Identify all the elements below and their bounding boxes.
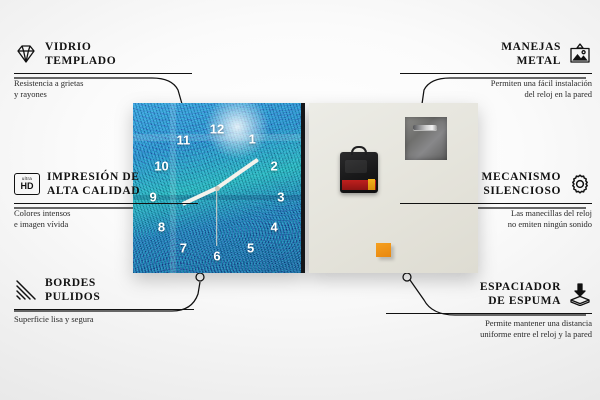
foam-spacer-part (376, 243, 391, 257)
callout-title: BORDES PULIDOS (45, 276, 100, 305)
callout-head: ultra HD IMPRESIÓN DE ALTA CALIDAD (14, 170, 198, 199)
callout-bordes-pulidos: BORDES PULIDOS Superficie lisa y segura (14, 276, 194, 325)
callout-head: ESPACIADOR DE ESPUMA (386, 280, 592, 309)
callout-vidrio-templado: VIDRIO TEMPLADO Resistencia a grietas y … (14, 40, 192, 101)
mechanism-loop (351, 146, 367, 155)
callout-rule (14, 309, 194, 310)
clock-numeral-11: 11 (177, 134, 191, 147)
callout-impresion-alta-calidad: ultra HD IMPRESIÓN DE ALTA CALIDAD Color… (14, 170, 198, 231)
callout-head: MECANISMO SILENCIOSO (400, 170, 592, 199)
callout-rule (14, 203, 198, 204)
callout-description: Superficie lisa y segura (14, 314, 194, 325)
gear-icon (568, 172, 592, 196)
callout-description: Permiten una fácil instalación del reloj… (400, 78, 592, 101)
callout-head: VIDRIO TEMPLADO (14, 40, 192, 69)
callout-description: Colores intensos e imagen vívida (14, 208, 198, 231)
mechanism-housing-detail (345, 160, 367, 173)
clock-numeral-7: 7 (180, 241, 187, 254)
callout-rule (400, 203, 592, 204)
clock-center-cap (215, 186, 220, 191)
callout-rule (386, 313, 592, 314)
hanger-slot (413, 125, 437, 130)
callout-manejas-metal: MANEJAS METAL Permiten una fácil instala… (400, 40, 592, 101)
callout-title: MECANISMO SILENCIOSO (481, 170, 561, 199)
callout-mecanismo-silencioso: MECANISMO SILENCIOSO Las manecillas del … (400, 170, 592, 231)
callout-espaciador-de-espuma: ESPACIADOR DE ESPUMA Permite mantener un… (386, 280, 592, 341)
callout-head: MANEJAS METAL (400, 40, 592, 69)
callout-title: ESPACIADOR DE ESPUMA (480, 280, 561, 309)
callout-title: MANEJAS METAL (501, 40, 561, 69)
clock-numeral-1: 1 (249, 132, 256, 145)
infographic-canvas: 12 1 2 3 4 5 6 7 8 9 10 11 (0, 0, 600, 400)
metal-hanger-part (405, 117, 447, 160)
callout-rule (14, 73, 192, 74)
picture-hanger-icon (568, 42, 592, 66)
callout-title: VIDRIO TEMPLADO (45, 40, 116, 69)
callout-description: Resistencia a grietas y rayones (14, 78, 192, 101)
clock-numeral-3: 3 (277, 190, 284, 203)
connector-dot-bordes (196, 273, 204, 281)
diamond-icon (14, 42, 38, 66)
ultra-hd-icon: ultra HD (14, 173, 40, 195)
clock-numeral-6: 6 (213, 250, 220, 263)
clock-numeral-5: 5 (247, 241, 254, 254)
clock-numeral-12: 12 (210, 122, 224, 135)
foam-spacer-icon (568, 282, 592, 306)
clock-numeral-4: 4 (270, 221, 277, 234)
mechanism-battery (368, 179, 375, 190)
callout-description: Las manecillas del reloj no emiten ningú… (400, 208, 592, 231)
callout-description: Permite mantener una distancia uniforme … (386, 318, 592, 341)
callout-head: BORDES PULIDOS (14, 276, 194, 305)
clock-mechanism-part (340, 152, 378, 193)
callout-title: IMPRESIÓN DE ALTA CALIDAD (47, 170, 140, 199)
diagonal-lines-icon (14, 278, 38, 302)
clock-numeral-2: 2 (270, 159, 277, 172)
callout-rule (400, 73, 592, 74)
